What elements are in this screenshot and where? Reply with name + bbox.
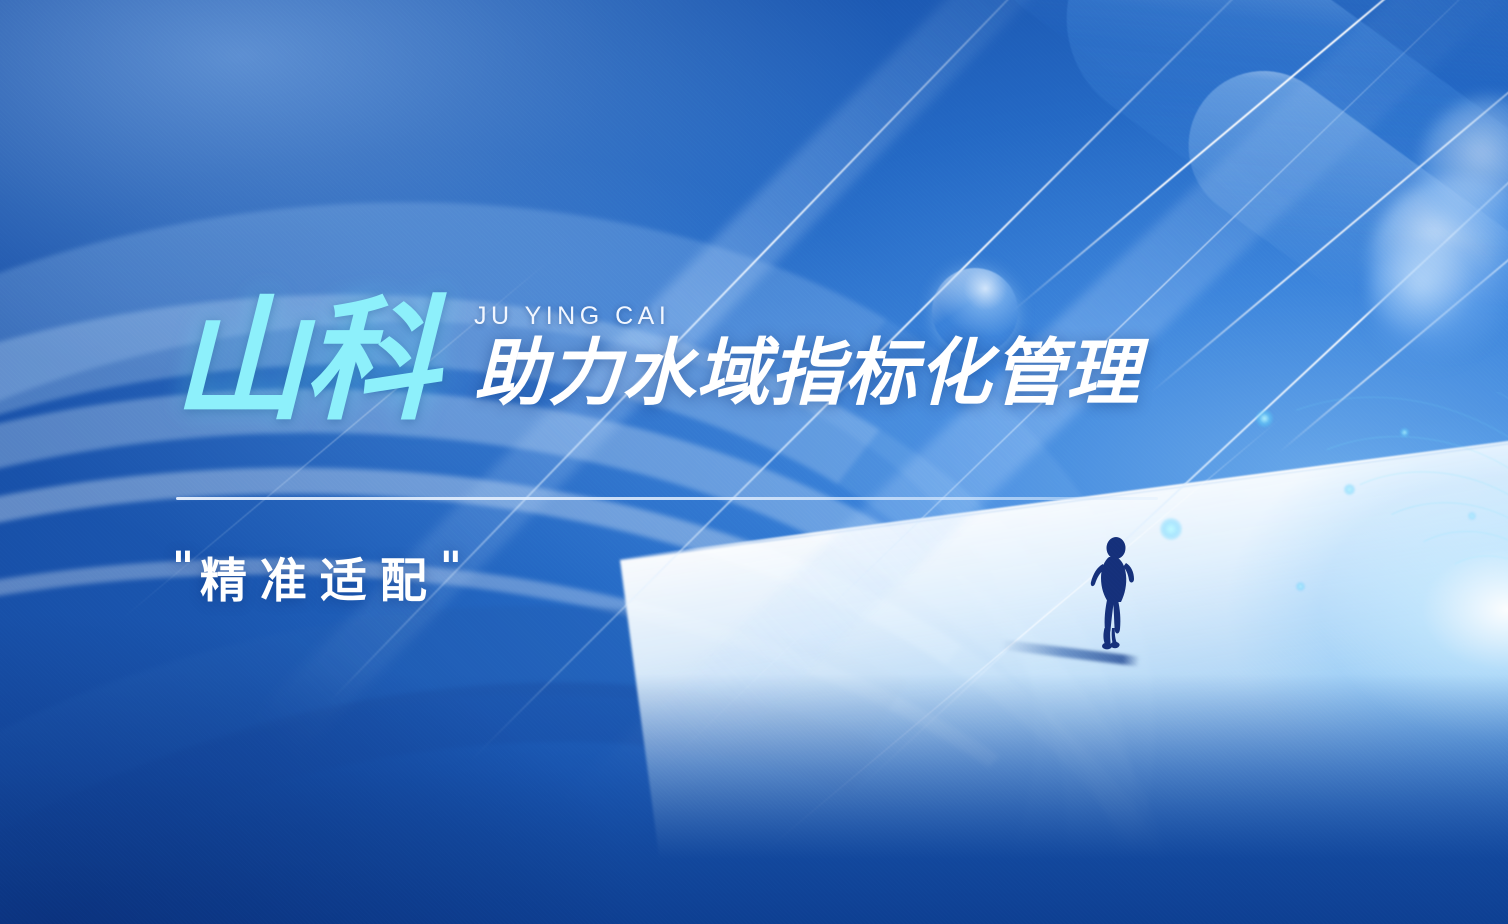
divider-line xyxy=(176,497,1158,500)
banner-content: 山科 JU YING CAI 助力水域指标化管理 "精准适配" xyxy=(0,0,1508,924)
title-block: 山科 JU YING CAI 助力水域指标化管理 xyxy=(172,296,1140,427)
tagline-block: "精准适配" xyxy=(172,542,468,611)
title-right-column: JU YING CAI 助力水域指标化管理 xyxy=(474,296,1140,410)
headline-text: 助力水域指标化管理 xyxy=(474,337,1140,410)
quote-close: " xyxy=(440,542,468,591)
brand-pinyin: JU YING CAI xyxy=(474,302,1140,331)
promo-banner: 山科 JU YING CAI 助力水域指标化管理 "精准适配" xyxy=(0,0,1508,924)
tagline-text: 精准适配 xyxy=(200,554,440,607)
quote-open: " xyxy=(172,542,200,591)
brand-name: 山科 xyxy=(172,296,436,427)
